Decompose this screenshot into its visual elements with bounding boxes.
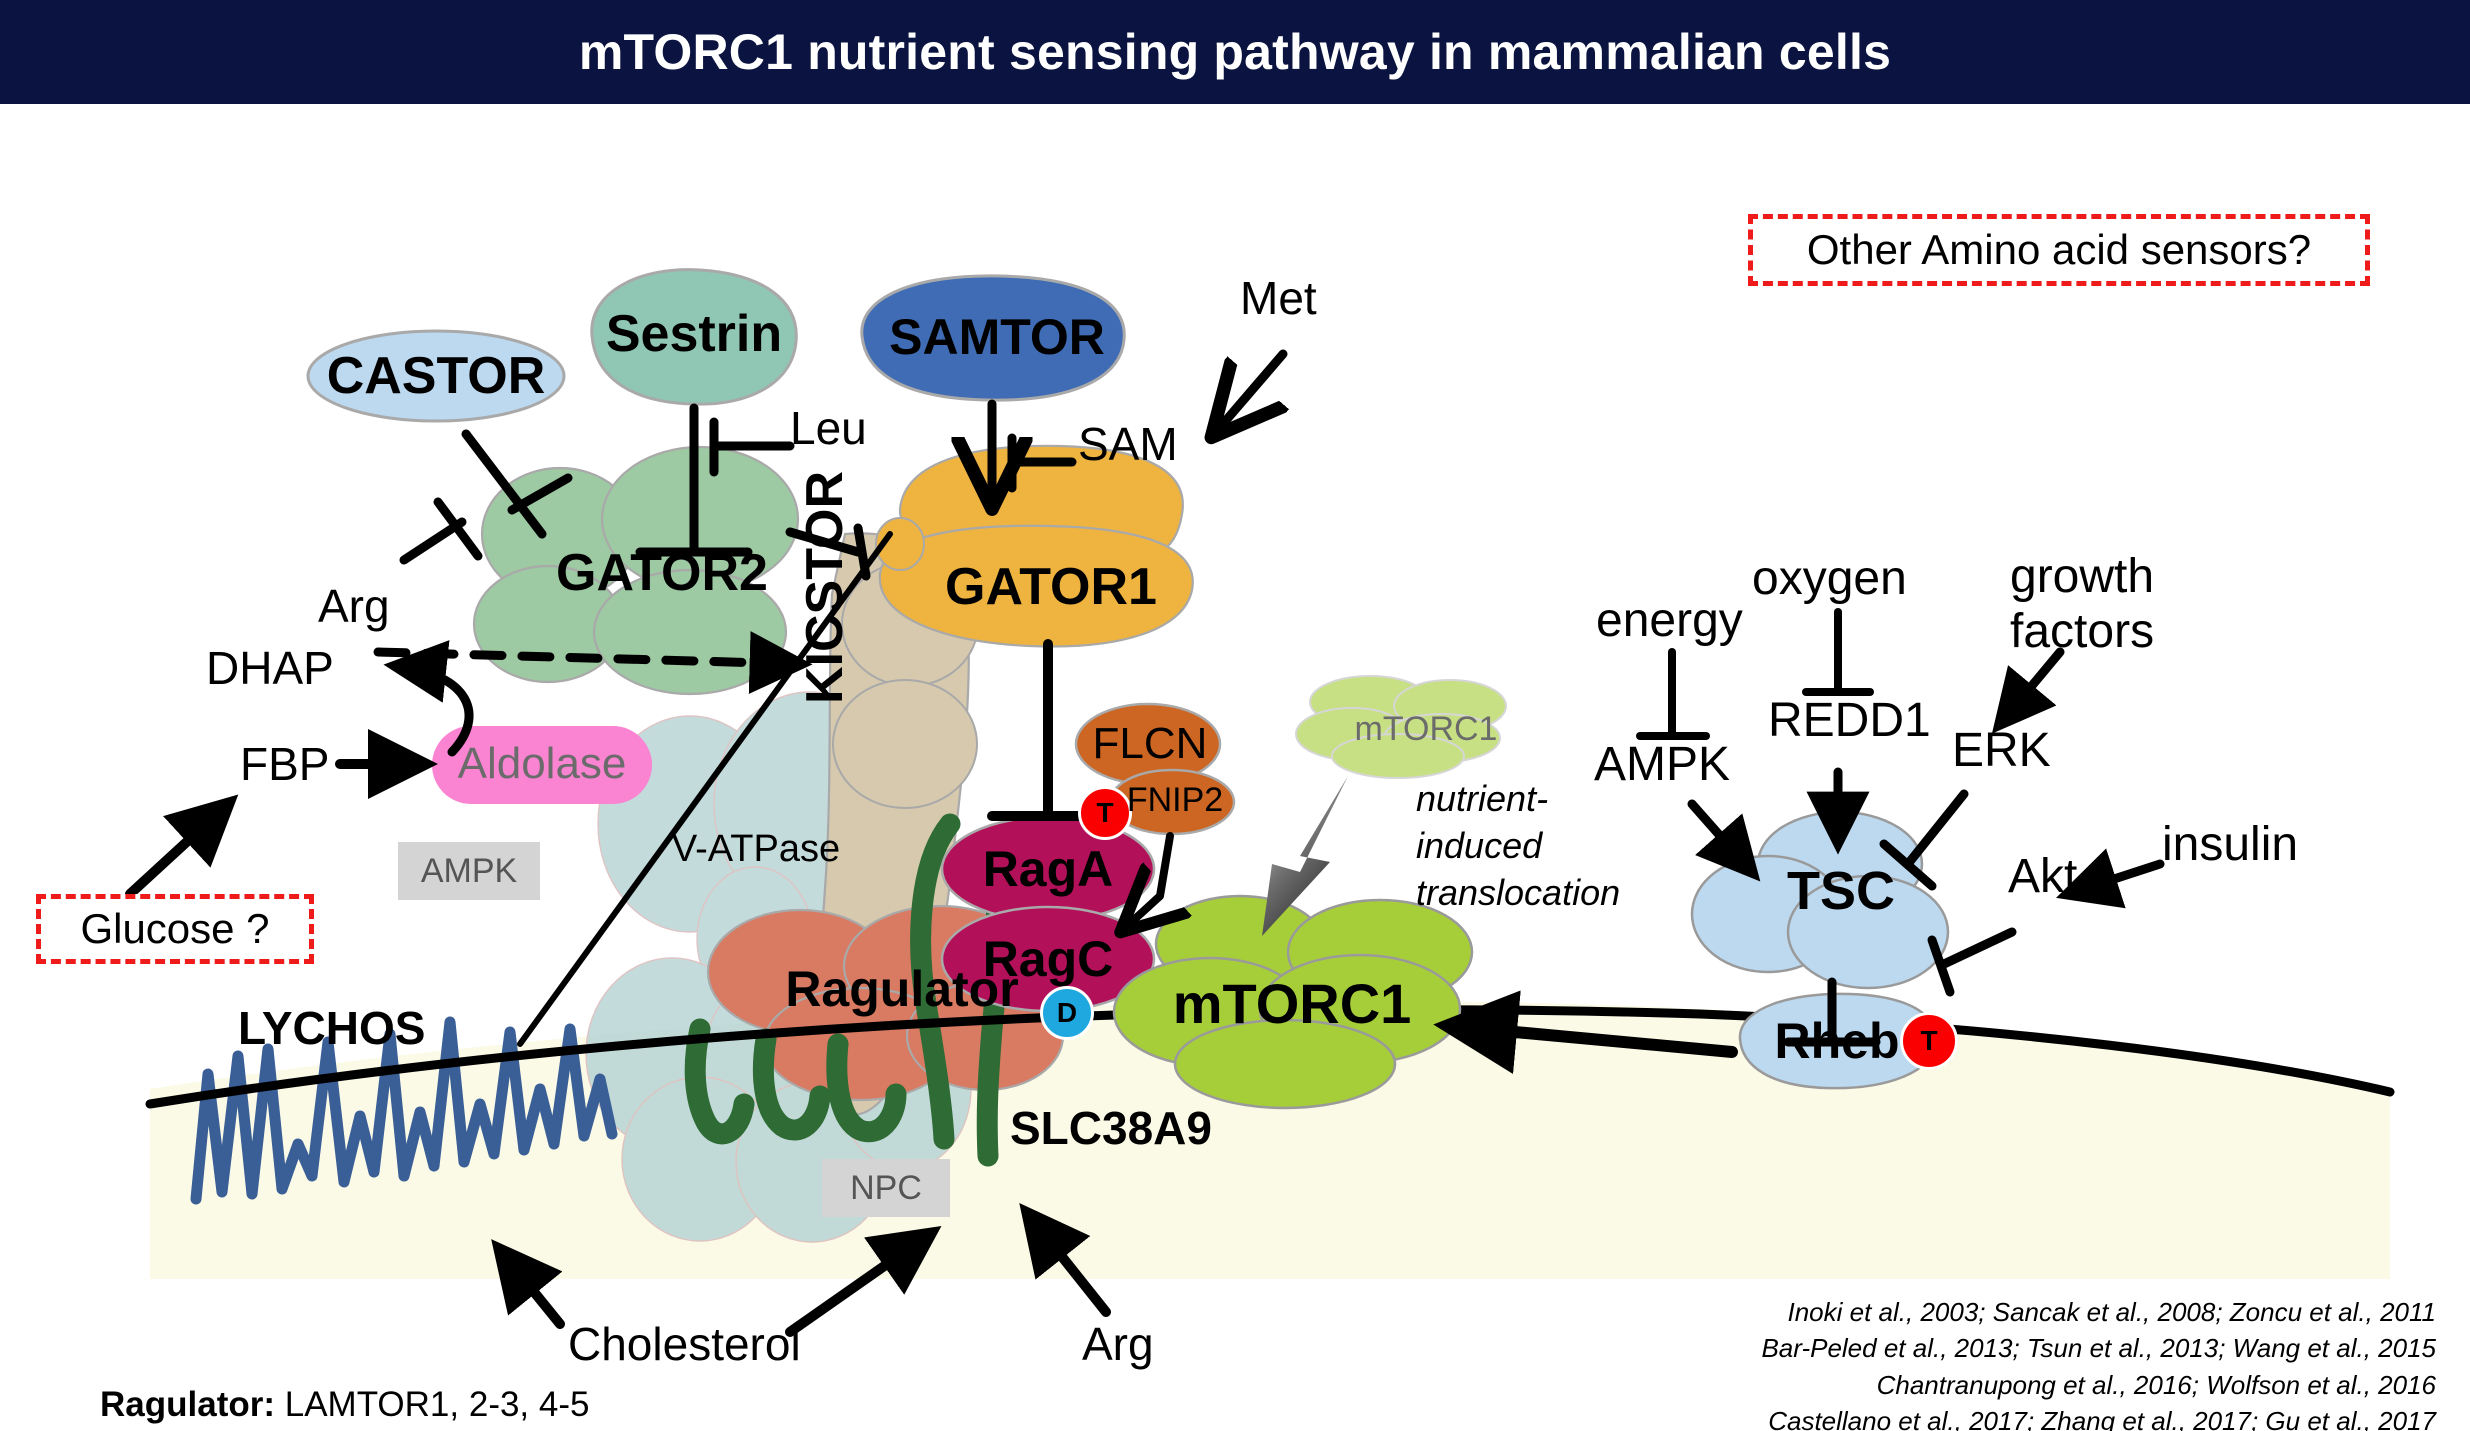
- arrow-tsc-inhibits-rheb: [1788, 982, 1876, 1042]
- arrow-aldolase-to-dhap: [396, 666, 469, 752]
- arrow-npc-to-slc38a9: [790, 1234, 930, 1332]
- insulin-label: insulin: [2162, 820, 2298, 870]
- npc-box: NPC: [822, 1159, 950, 1217]
- arrow-growthfactors-to-erk: [2000, 652, 2060, 724]
- leu-label: Leu: [790, 404, 867, 452]
- arrow-ampk-to-tsc: [1692, 804, 1752, 872]
- gator1-shape: [876, 446, 1193, 647]
- ampk-box-label: AMPK: [421, 852, 517, 891]
- tsc-shape: [1692, 812, 1948, 988]
- mtorc1-shape: [1114, 896, 1472, 1108]
- oxygen-label: oxygen: [1752, 554, 1907, 604]
- arrow-rheb-to-mtorc1: [1450, 1026, 1732, 1052]
- translocation-line-1: nutrient-: [1416, 776, 1620, 823]
- callout-other-amino-acid-sensors: Other Amino acid sensors?: [1748, 214, 2370, 286]
- translocation-line-3: translocation: [1416, 870, 1620, 917]
- energy-label: energy: [1596, 596, 1743, 646]
- sestrin-shape: [592, 270, 797, 405]
- kicstor-label: KICSTOR: [798, 471, 853, 704]
- arg-top-label: Arg: [318, 582, 390, 630]
- gator2-shape: [474, 447, 798, 694]
- erk-label: ERK: [1952, 726, 2051, 776]
- sestrin-label: Sestrin: [586, 302, 802, 366]
- callout-glucose-label: Glucose ?: [80, 905, 269, 953]
- page-title: mTORC1 nutrient sensing pathway in mamma…: [579, 23, 1891, 81]
- arrow-energy-inhibits-ampk: [1640, 652, 1706, 736]
- slc38a9-label: SLC38A9: [1010, 1104, 1212, 1152]
- arrow-met-to-sam: [1216, 354, 1283, 432]
- flcn-label: FLCN: [1086, 716, 1214, 772]
- arrow-gator1-inhibits-raga: [992, 644, 1104, 816]
- mtorc1-cytosolic-label: mTORC1: [1336, 706, 1516, 752]
- arrow-flcn-to-ragc: [1125, 836, 1170, 928]
- fnip2-label: FNIP2: [1116, 778, 1234, 822]
- raga-nucleotide-badge: T: [1078, 786, 1132, 840]
- arrow-akt-inhibits-tsc: [1932, 932, 2012, 992]
- figure-title-bar: mTORC1 nutrient sensing pathway in mamma…: [0, 0, 2470, 104]
- mtorc1-lysosomal-label: mTORC1: [1152, 970, 1432, 1036]
- citation-line: Inoki et al., 2003; Sancak et al., 2008;…: [1761, 1294, 2436, 1330]
- citation-line: Chantranupong et al., 2016; Wolfson et a…: [1761, 1367, 2436, 1403]
- ragc-nucleotide-badge: D: [1040, 986, 1094, 1040]
- legend-desc: LAMTOR1, 2-3, 4-5: [275, 1385, 589, 1424]
- met-label: Met: [1240, 274, 1317, 322]
- ampk-signaling-label: AMPK: [1594, 740, 1730, 790]
- ragulator-shape: [708, 906, 1063, 1100]
- fbp-label: FBP: [240, 740, 329, 788]
- arrow-dhap-to-vatpase: [378, 652, 800, 664]
- akt-label: Akt: [2008, 852, 2077, 902]
- growth-factors-label: growth factors: [2010, 550, 2154, 659]
- diagram-graphics: GATOR1 (activating arrow) --> SAM -->: [0, 104, 2470, 1431]
- ampk-lysosomal-box: AMPK: [398, 842, 540, 900]
- tsc-label: TSC: [1756, 860, 1926, 922]
- mtorc1-cytosolic-shape: [1296, 676, 1506, 778]
- lysosome-membrane-line: [150, 1010, 2390, 1104]
- arg-bottom-label: Arg: [1082, 1320, 1154, 1368]
- growth-factors-line-2: factors: [2010, 605, 2154, 660]
- citations-block: Inoki et al., 2003; Sancak et al., 2008;…: [1761, 1294, 2436, 1431]
- slc38a9-shape: [695, 824, 997, 1156]
- arrow-oxygen-inhibits-redd1: [1806, 612, 1870, 692]
- citation-line: Castellano et al., 2017; Zhang et al., 2…: [1761, 1403, 2436, 1431]
- npc-box-label: NPC: [850, 1169, 922, 1208]
- pathway-figure: mTORC1 nutrient sensing pathway in mamma…: [0, 0, 2470, 1431]
- translocation-arrow: [1262, 776, 1348, 936]
- arrow-cholesterol-to-lychos: [500, 1250, 560, 1324]
- dhap-label: DHAP: [206, 644, 334, 692]
- arrow-leu-inhibits-sestrin: [714, 422, 790, 472]
- diagram-canvas: GATOR1 (activating arrow) --> SAM -->: [0, 104, 2470, 1431]
- samtor-label: SAMTOR: [866, 306, 1128, 368]
- legend-term: Ragulator:: [100, 1385, 275, 1424]
- redd1-label: REDD1: [1768, 696, 1931, 746]
- ragulator-label: Ragulator: [748, 960, 1056, 1018]
- legend-row: GATOR1: a GTPase activating protein (GAP…: [100, 1428, 1049, 1431]
- callout-glucose: Glucose ?: [36, 894, 314, 964]
- arrow-glucose-to-fbp: [130, 804, 228, 894]
- aldolase-label: Aldolase: [434, 734, 650, 794]
- sam-label: SAM: [1078, 420, 1178, 468]
- samtor-shape: [862, 276, 1124, 400]
- arrow-insulin-to-akt: [2068, 864, 2160, 894]
- raga-label: RagA: [972, 840, 1124, 898]
- arrow-sam-inhibits-samtor: [1012, 438, 1072, 488]
- ragc-label: RagC: [972, 930, 1124, 988]
- v-atpase-label: V-ATPase: [616, 824, 896, 874]
- castor-label: CASTOR: [308, 344, 564, 408]
- legend-row: Ragulator: LAMTOR1, 2-3, 4-5: [100, 1382, 1049, 1428]
- lysosome-lumen: [150, 1001, 2390, 1279]
- arrow-castor-inhibits-gator2: [466, 434, 568, 534]
- cholesterol-label: Cholesterol: [568, 1320, 801, 1368]
- translocation-line-2: induced: [1416, 823, 1620, 870]
- gator2-label: GATOR2: [512, 542, 812, 604]
- rheb-nucleotide-badge: T: [1900, 1012, 1958, 1070]
- gator1-label: GATOR1: [908, 556, 1194, 618]
- lychos-label: LYCHOS: [238, 1004, 425, 1052]
- callout-amino-acid-sensors-label: Other Amino acid sensors?: [1807, 226, 2311, 274]
- arrow-arg-inhibits-castor: [404, 502, 478, 560]
- translocation-caption: nutrient- induced translocation: [1416, 776, 1620, 916]
- arrow-erk-inhibits-tsc: [1884, 794, 1964, 886]
- legend: Ragulator: LAMTOR1, 2-3, 4-5 GATOR1: a G…: [100, 1382, 1049, 1431]
- castor-shape: [308, 331, 564, 421]
- arrow-sestrin-inhibits-gator2: [640, 408, 748, 552]
- aldolase-shape: [432, 726, 652, 804]
- arrow-arg-to-slc38a9: [1028, 1214, 1106, 1312]
- citation-line: Bar-Peled et al., 2013; Tsun et al., 201…: [1761, 1330, 2436, 1366]
- growth-factors-line-1: growth: [2010, 550, 2154, 605]
